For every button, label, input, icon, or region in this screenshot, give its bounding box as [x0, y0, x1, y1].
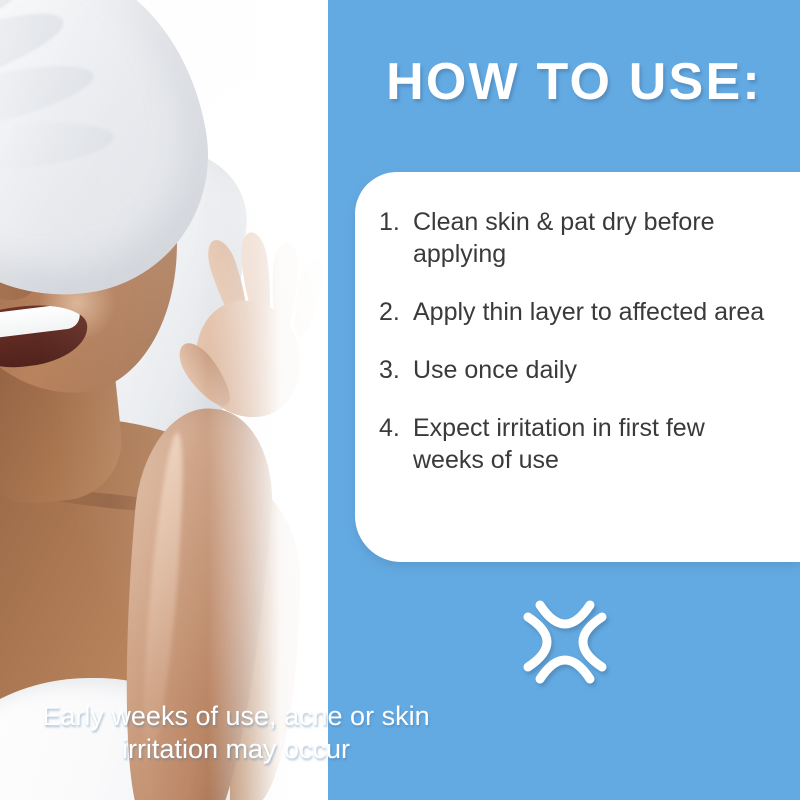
step-text: Use once daily [413, 354, 778, 386]
how-to-use-infographic: HOW TO USE: 1. Clean skin & pat dry befo… [0, 0, 800, 800]
list-item: 4. Expect irritation in first few weeks … [379, 412, 778, 476]
list-item: 3. Use once daily [379, 354, 778, 386]
product-lifestyle-photo [0, 0, 328, 800]
step-text: Clean skin & pat dry before applying [413, 206, 778, 270]
step-number: 1. [379, 206, 413, 238]
step-text: Expect irritation in first few weeks of … [413, 412, 778, 476]
step-number: 3. [379, 354, 413, 386]
towel-fold [0, 114, 115, 178]
list-item: 2. Apply thin layer to affected area [379, 296, 778, 328]
irritation-note: Early weeks of use, acne or skin irritat… [18, 700, 454, 766]
skin-irritation-icon [520, 597, 610, 687]
model-teeth [0, 302, 81, 340]
photo-light-band [208, 0, 328, 800]
steps-list: 1. Clean skin & pat dry before applying … [379, 206, 778, 476]
page-title: HOW TO USE: [368, 56, 780, 108]
step-text: Apply thin layer to affected area [413, 296, 778, 328]
list-item: 1. Clean skin & pat dry before applying [379, 206, 778, 270]
step-number: 4. [379, 412, 413, 444]
step-number: 2. [379, 296, 413, 328]
steps-card: 1. Clean skin & pat dry before applying … [355, 172, 800, 562]
